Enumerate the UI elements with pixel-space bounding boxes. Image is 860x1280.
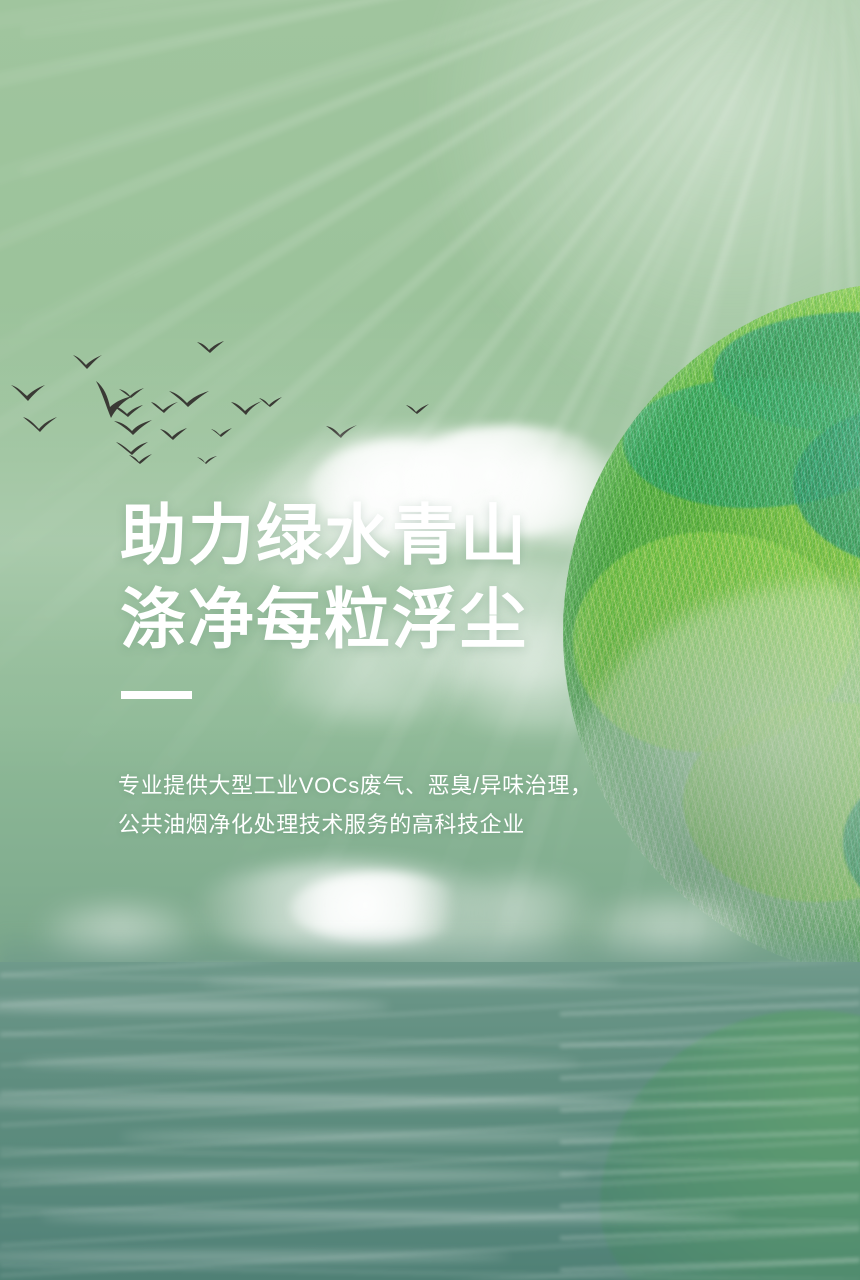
divider-rule [121,691,192,699]
subtitle: 专业提供大型工业VOCs废气、恶臭/异味治理， 公共油烟净化处理技术服务的高科技… [118,766,593,844]
poster-canvas: 助力绿水青山 涤净每粒浮尘 专业提供大型工业VOCs废气、恶臭/异味治理， 公共… [0,0,860,1280]
headline: 助力绿水青山 涤净每粒浮尘 [120,493,528,661]
headline-line-1: 助力绿水青山 [120,493,528,577]
subtitle-line-2: 公共油烟净化处理技术服务的高科技企业 [118,805,593,844]
headline-line-2: 涤净每粒浮尘 [120,577,528,661]
poster-content: 助力绿水青山 涤净每粒浮尘 专业提供大型工业VOCs废气、恶臭/异味治理， 公共… [120,0,760,1280]
subtitle-line-1: 专业提供大型工业VOCs废气、恶臭/异味治理， [118,766,593,805]
